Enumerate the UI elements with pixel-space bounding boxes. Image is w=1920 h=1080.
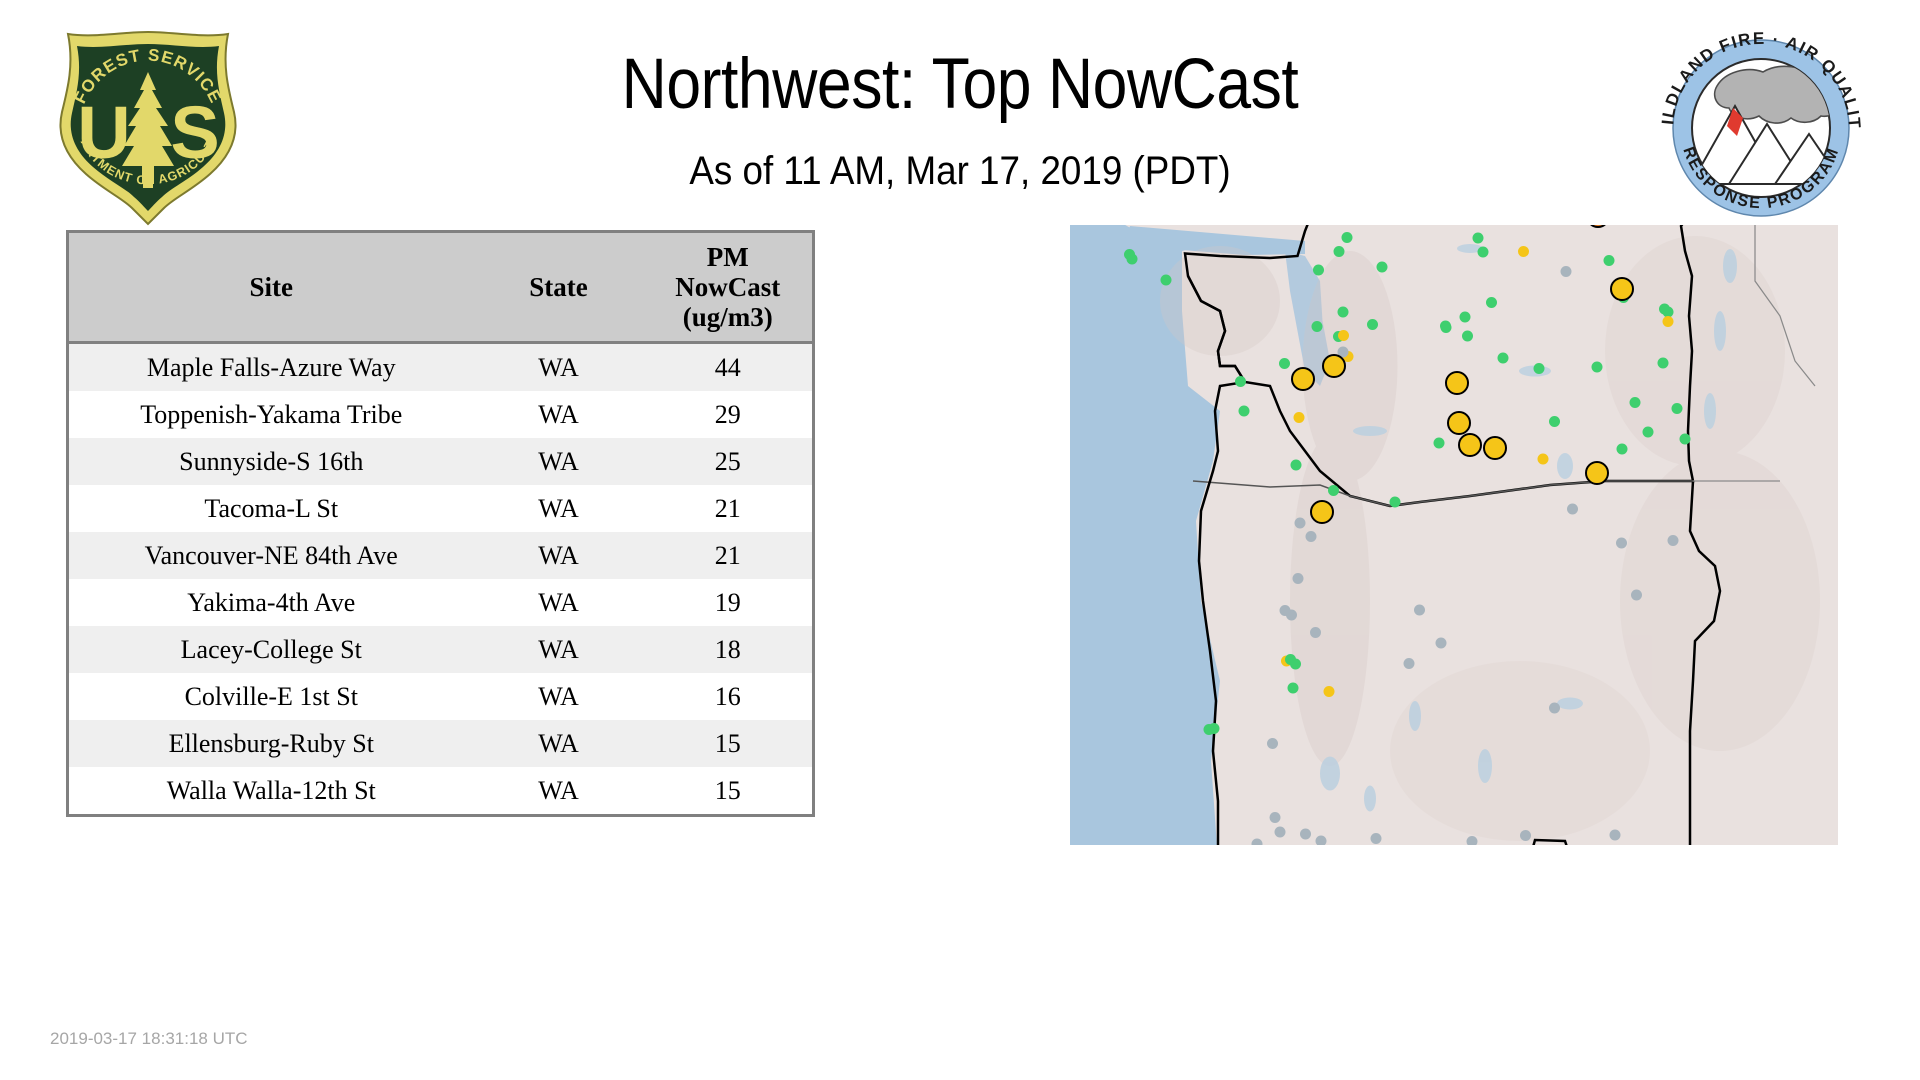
monitor-marker-good[interactable] [1312, 321, 1323, 332]
pm-nowcast-cell: 25 [644, 438, 814, 485]
monitor-marker-good[interactable] [1239, 406, 1250, 417]
pm-nowcast-cell: 19 [644, 579, 814, 626]
monitor-marker-good[interactable] [1680, 434, 1691, 445]
monitor-marker-good[interactable] [1235, 376, 1246, 387]
pm-nowcast-cell: 15 [644, 767, 814, 816]
monitor-marker-moderate[interactable] [1338, 330, 1349, 341]
table-row[interactable]: Sunnyside-S 16thWA25 [68, 438, 814, 485]
table-row[interactable]: Ellensburg-Ruby StWA15 [68, 720, 814, 767]
top-site-marker[interactable] [1311, 501, 1333, 523]
monitor-marker-good[interactable] [1290, 659, 1301, 670]
monitor-marker-no_data[interactable] [1567, 504, 1578, 515]
table-row[interactable]: Vancouver-NE 84th AveWA21 [68, 532, 814, 579]
monitor-marker-no_data[interactable] [1520, 830, 1531, 841]
table-row[interactable]: Maple Falls-Azure WayWA44 [68, 343, 814, 392]
state-cell: WA [474, 438, 644, 485]
monitor-marker-good[interactable] [1279, 358, 1290, 369]
monitor-marker-good[interactable] [1291, 460, 1302, 471]
monitor-marker-good[interactable] [1478, 247, 1489, 258]
site-cell: Walla Walla-12th St [68, 767, 474, 816]
monitor-marker-good[interactable] [1328, 485, 1339, 496]
column-header-pm-nowcast[interactable]: PM NowCast (ug/m3) [644, 232, 814, 343]
monitor-marker-no_data[interactable] [1286, 610, 1297, 621]
monitor-marker-good[interactable] [1498, 353, 1509, 364]
top-site-marker[interactable] [1586, 462, 1608, 484]
top-site-marker[interactable] [1323, 355, 1345, 377]
monitor-marker-good[interactable] [1630, 397, 1641, 408]
table-row[interactable]: Lacey-College StWA18 [68, 626, 814, 673]
wildland-fire-air-quality-logo: WILDLAND FIRE · AIR QUALITY RESPONSE PRO… [1655, 32, 1867, 218]
monitor-marker-good[interactable] [1617, 444, 1628, 455]
monitor-marker-no_data[interactable] [1267, 738, 1278, 749]
monitor-marker-good[interactable] [1338, 307, 1349, 318]
top-nowcast-table: Site State PM NowCast (ug/m3) Maple Fall… [66, 230, 815, 817]
monitor-marker-no_data[interactable] [1404, 658, 1415, 669]
monitor-marker-good[interactable] [1204, 724, 1215, 735]
monitor-marker-good[interactable] [1460, 312, 1471, 323]
state-cell: WA [474, 767, 644, 816]
monitor-marker-no_data[interactable] [1300, 829, 1311, 840]
pm-nowcast-cell: 21 [644, 485, 814, 532]
state-cell: WA [474, 391, 644, 438]
site-cell: Sunnyside-S 16th [68, 438, 474, 485]
monitor-marker-good[interactable] [1334, 246, 1345, 257]
table-row[interactable]: Walla Walla-12th StWA15 [68, 767, 814, 816]
monitor-marker-good[interactable] [1434, 438, 1445, 449]
page-title: Northwest: Top NowCast [379, 48, 1541, 123]
table-body: Maple Falls-Azure WayWA44Toppenish-Yakam… [68, 343, 814, 816]
column-header-pm-line3: (ug/m3) [683, 302, 773, 332]
site-cell: Ellensburg-Ruby St [68, 720, 474, 767]
monitor-marker-good[interactable] [1127, 254, 1138, 265]
pm-nowcast-cell: 18 [644, 626, 814, 673]
monitor-marker-no_data[interactable] [1295, 518, 1306, 529]
top-site-marker[interactable] [1484, 437, 1506, 459]
monitor-marker-no_data[interactable] [1275, 827, 1286, 838]
wfaqrp-seal-icon: WILDLAND FIRE · AIR QUALITY RESPONSE PRO… [1655, 32, 1867, 218]
usda-forest-service-logo: FOREST SERVICE U S DEPARTMENT OF AGRICUL… [52, 28, 244, 226]
monitor-marker-good[interactable] [1604, 255, 1615, 266]
monitor-marker-good[interactable] [1367, 319, 1378, 330]
monitor-marker-good[interactable] [1288, 683, 1299, 694]
monitor-marker-good[interactable] [1377, 262, 1388, 273]
monitor-marker-good[interactable] [1342, 232, 1353, 243]
monitor-marker-good[interactable] [1549, 416, 1560, 427]
monitor-marker-no_data[interactable] [1610, 830, 1621, 841]
column-header-state[interactable]: State [474, 232, 644, 343]
monitor-marker-good[interactable] [1663, 307, 1674, 318]
monitor-marker-good[interactable] [1643, 427, 1654, 438]
page-header: FOREST SERVICE U S DEPARTMENT OF AGRICUL… [0, 0, 1920, 250]
monitor-marker-good[interactable] [1534, 363, 1545, 374]
monitor-marker-no_data[interactable] [1616, 538, 1627, 549]
table-row[interactable]: Toppenish-Yakama TribeWA29 [68, 391, 814, 438]
monitor-marker-good[interactable] [1473, 233, 1484, 244]
table-row[interactable]: Colville-E 1st StWA16 [68, 673, 814, 720]
page-subtitle: As of 11 AM, Mar 17, 2019 (PDT) [353, 149, 1567, 193]
column-header-pm-line1: PM [707, 242, 749, 272]
monitor-marker-no_data[interactable] [1668, 535, 1679, 546]
site-cell: Yakima-4th Ave [68, 579, 474, 626]
pm-nowcast-cell: 29 [644, 391, 814, 438]
top-site-marker[interactable] [1459, 434, 1481, 456]
monitor-marker-no_data[interactable] [1561, 266, 1572, 277]
monitor-marker-no_data[interactable] [1293, 573, 1304, 584]
monitor-marker-no_data[interactable] [1549, 703, 1560, 714]
footer-timestamp: 2019-03-17 18:31:18 UTC [50, 1029, 248, 1049]
monitor-marker-no_data[interactable] [1310, 627, 1321, 638]
monitor-marker-no_data[interactable] [1631, 590, 1642, 601]
monitor-marker-good[interactable] [1441, 322, 1452, 333]
table-row[interactable]: Yakima-4th AveWA19 [68, 579, 814, 626]
monitor-marker-no_data[interactable] [1306, 531, 1317, 542]
monitor-marker-no_data[interactable] [1436, 638, 1447, 649]
column-header-site[interactable]: Site [68, 232, 474, 343]
monitor-marker-moderate[interactable] [1324, 686, 1335, 697]
state-cell: WA [474, 532, 644, 579]
monitor-marker-moderate[interactable] [1538, 454, 1549, 465]
monitor-marker-no_data[interactable] [1270, 812, 1281, 823]
monitor-marker-no_data[interactable] [1414, 605, 1425, 616]
top-site-marker[interactable] [1292, 368, 1314, 390]
site-cell: Colville-E 1st St [68, 673, 474, 720]
monitor-marker-no_data[interactable] [1371, 833, 1382, 844]
monitor-map-panel[interactable] [1070, 225, 1838, 845]
pm-nowcast-cell: 21 [644, 532, 814, 579]
table-header-row: Site State PM NowCast (ug/m3) [68, 232, 814, 343]
forest-service-shield-icon: FOREST SERVICE U S DEPARTMENT OF AGRICUL… [52, 28, 244, 226]
monitor-marker-good[interactable] [1672, 403, 1683, 414]
monitor-marker-good[interactable] [1313, 265, 1324, 276]
state-cell: WA [474, 579, 644, 626]
pacific-northwest-map[interactable] [1070, 225, 1838, 845]
state-cell: WA [474, 343, 644, 392]
pm-nowcast-cell: 16 [644, 673, 814, 720]
monitor-marker-good[interactable] [1658, 358, 1669, 369]
site-cell: Maple Falls-Azure Way [68, 343, 474, 392]
state-cell: WA [474, 626, 644, 673]
monitor-marker-moderate[interactable] [1294, 412, 1305, 423]
monitor-marker-good[interactable] [1161, 275, 1172, 286]
state-cell: WA [474, 673, 644, 720]
top-site-marker[interactable] [1611, 278, 1633, 300]
site-cell: Lacey-College St [68, 626, 474, 673]
monitor-marker-moderate[interactable] [1518, 246, 1529, 257]
top-nowcast-table-panel: Site State PM NowCast (ug/m3) Maple Fall… [66, 230, 812, 817]
state-cell: WA [474, 720, 644, 767]
monitor-marker-good[interactable] [1390, 497, 1401, 508]
monitor-marker-good[interactable] [1486, 297, 1497, 308]
title-block: Northwest: Top NowCast As of 11 AM, Mar … [300, 48, 1620, 193]
top-site-marker[interactable] [1446, 372, 1468, 394]
top-site-marker[interactable] [1448, 412, 1470, 434]
pm-nowcast-cell: 15 [644, 720, 814, 767]
table-row[interactable]: Tacoma-L StWA21 [68, 485, 814, 532]
monitor-marker-moderate[interactable] [1663, 316, 1674, 327]
state-cell: WA [474, 485, 644, 532]
column-header-pm-line2: NowCast [675, 272, 780, 302]
site-cell: Vancouver-NE 84th Ave [68, 532, 474, 579]
site-cell: Toppenish-Yakama Tribe [68, 391, 474, 438]
pm-nowcast-cell: 44 [644, 343, 814, 392]
monitor-marker-good[interactable] [1592, 362, 1603, 373]
site-cell: Tacoma-L St [68, 485, 474, 532]
monitor-marker-good[interactable] [1462, 331, 1473, 342]
